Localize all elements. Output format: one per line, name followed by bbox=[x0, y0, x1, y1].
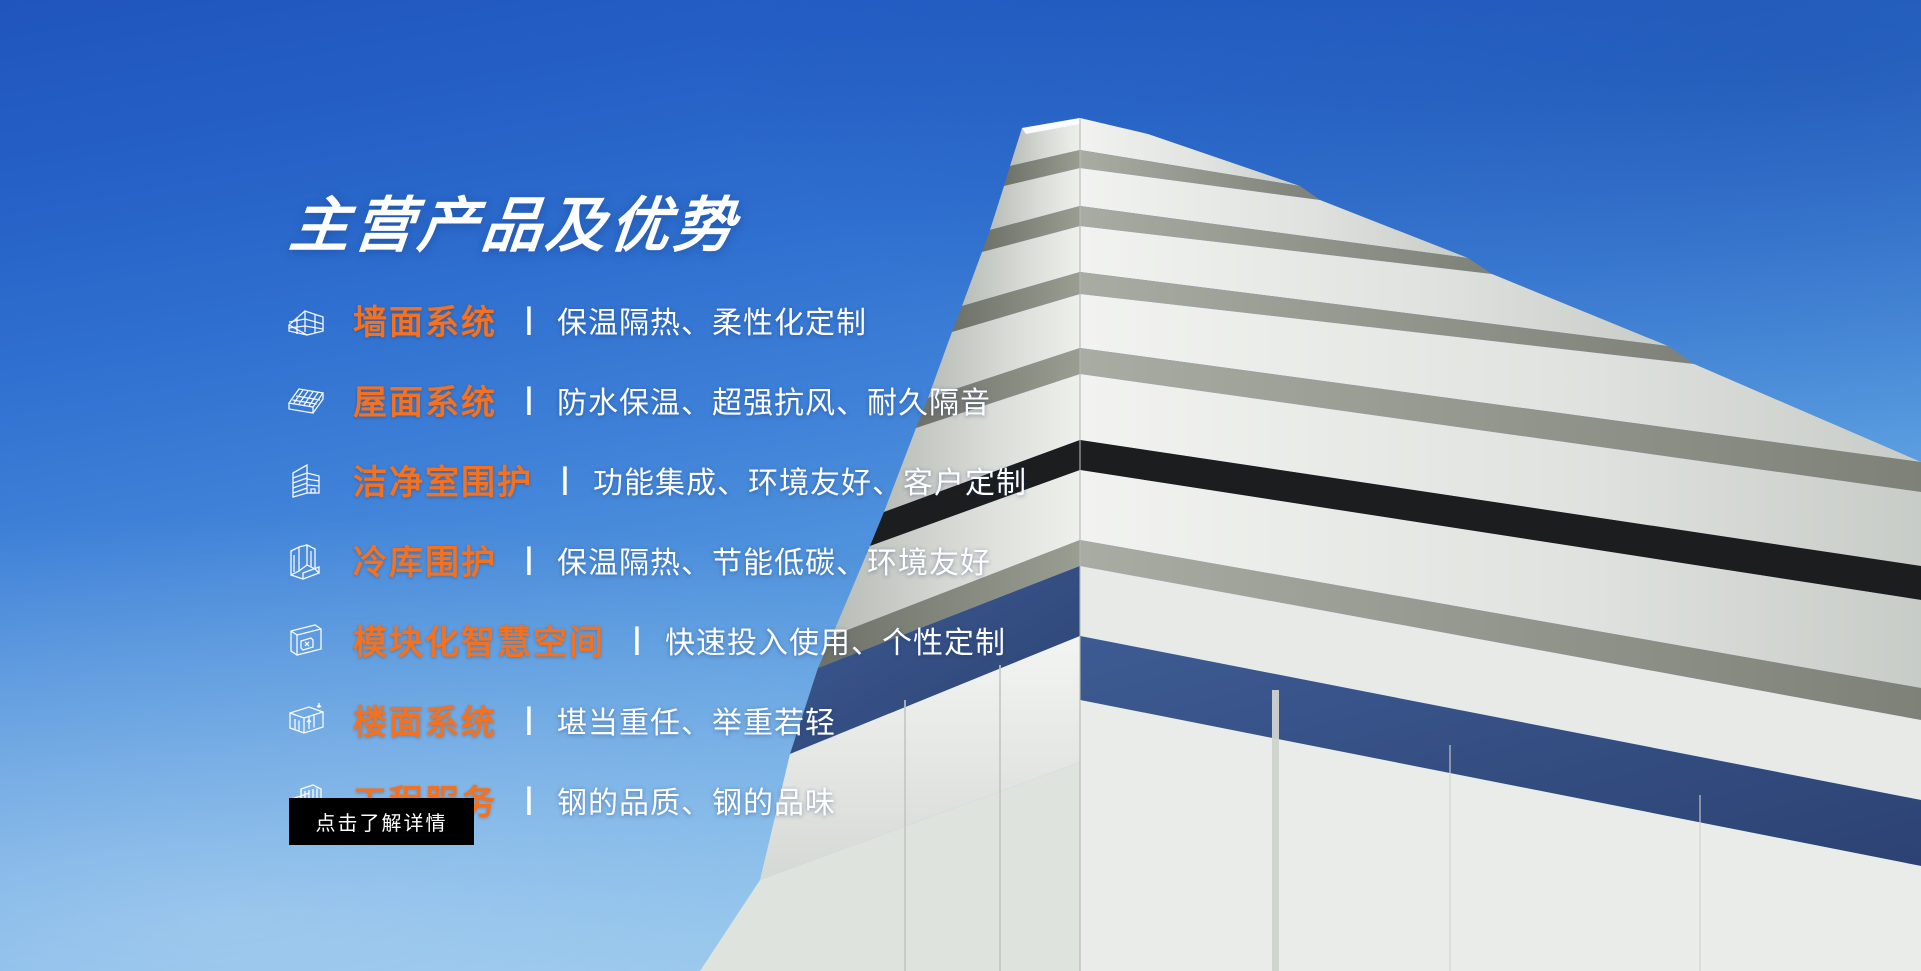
separator-icon: 丨 bbox=[622, 617, 652, 661]
product-name: 楼面系统 bbox=[353, 695, 497, 744]
roof-panel-icon bbox=[285, 379, 327, 421]
product-name: 墙面系统 bbox=[353, 295, 497, 344]
product-desc: 快速投入使用、个性定制 bbox=[665, 618, 1006, 662]
separator-icon: 丨 bbox=[514, 777, 544, 821]
separator-icon: 丨 bbox=[514, 537, 544, 581]
separator-icon: 丨 bbox=[514, 297, 544, 341]
banner-content: 主营产品及优势 墙面系统 丨 保温隔热、柔性化定制 bbox=[0, 0, 1921, 971]
learn-more-button[interactable]: 点击了解详情 bbox=[289, 798, 474, 845]
product-desc: 保温隔热、节能低碳、环境友好 bbox=[557, 538, 991, 582]
product-desc: 功能集成、环境友好、客户定制 bbox=[593, 458, 1027, 502]
list-item[interactable]: 模块化智慧空间 丨 快速投入使用、个性定制 bbox=[285, 616, 1027, 663]
floor-deck-icon bbox=[285, 699, 327, 741]
list-item[interactable]: 楼面系统 丨 堪当重任、举重若轻 bbox=[285, 696, 1027, 743]
page-title: 主营产品及优势 bbox=[287, 196, 741, 256]
modular-cube-icon bbox=[285, 619, 327, 661]
separator-icon: 丨 bbox=[514, 377, 544, 421]
cold-storage-icon bbox=[285, 539, 327, 581]
list-item[interactable]: 墙面系统 丨 保温隔热、柔性化定制 bbox=[285, 296, 1027, 343]
hero-banner: 主营产品及优势 墙面系统 丨 保温隔热、柔性化定制 bbox=[0, 0, 1921, 971]
product-desc: 堪当重任、举重若轻 bbox=[557, 698, 836, 742]
list-item[interactable]: 屋面系统 丨 防水保温、超强抗风、耐久隔音 bbox=[285, 376, 1027, 423]
product-name: 模块化智慧空间 bbox=[353, 615, 605, 664]
separator-icon: 丨 bbox=[514, 697, 544, 741]
product-name: 屋面系统 bbox=[353, 375, 497, 424]
product-list: 墙面系统 丨 保温隔热、柔性化定制 屋面系统 丨 防水保温、超强抗 bbox=[285, 296, 1027, 856]
product-desc: 钢的品质、钢的品味 bbox=[557, 778, 836, 822]
wall-panel-icon bbox=[285, 299, 327, 341]
list-item[interactable]: 冷库围护 丨 保温隔热、节能低碳、环境友好 bbox=[285, 536, 1027, 583]
product-desc: 保温隔热、柔性化定制 bbox=[557, 298, 867, 342]
product-desc: 防水保温、超强抗风、耐久隔音 bbox=[557, 378, 991, 422]
list-item[interactable]: 洁净室围护 丨 功能集成、环境友好、客户定制 bbox=[285, 456, 1027, 503]
product-name: 冷库围护 bbox=[353, 535, 497, 584]
product-name: 洁净室围护 bbox=[353, 455, 533, 504]
separator-icon: 丨 bbox=[550, 457, 580, 501]
cleanroom-building-icon bbox=[285, 459, 327, 501]
